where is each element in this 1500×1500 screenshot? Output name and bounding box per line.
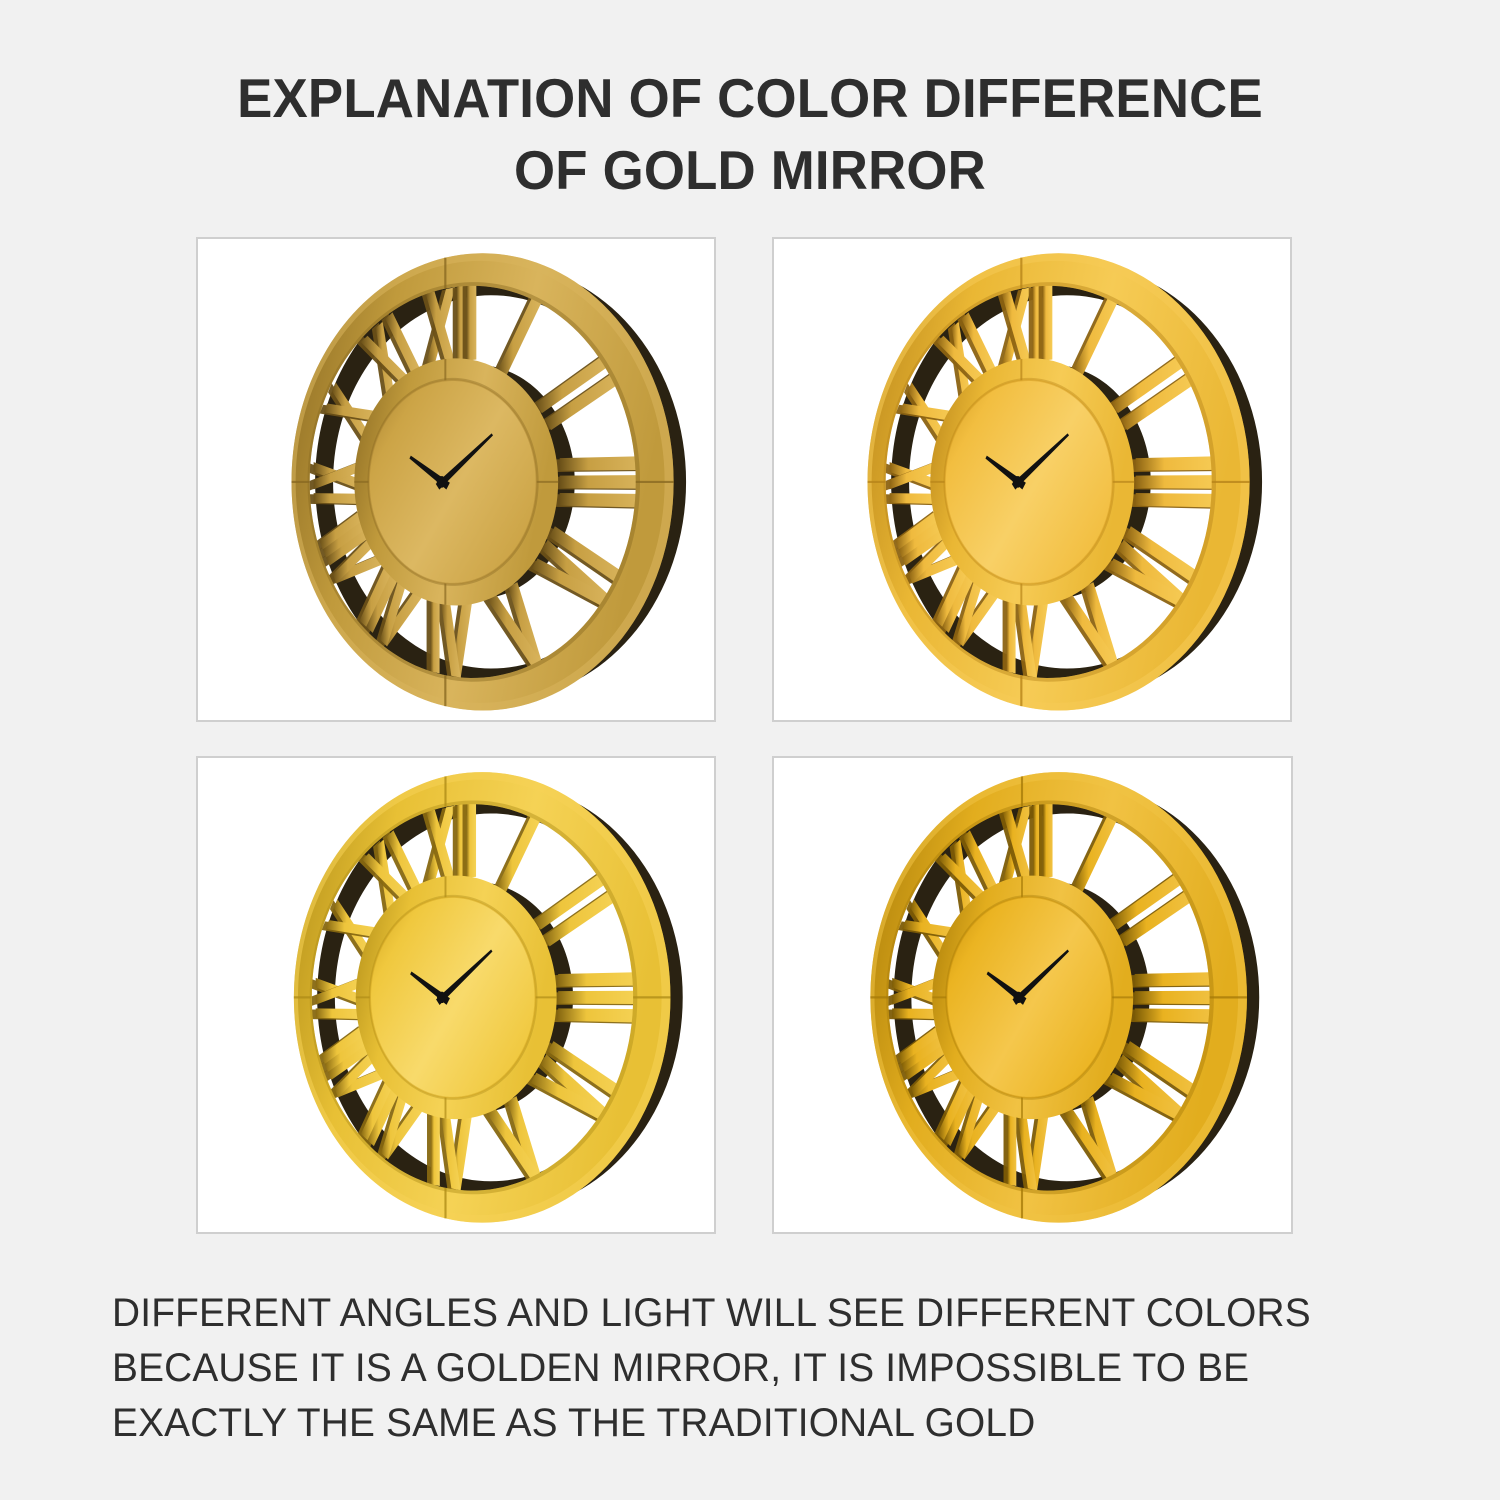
roman-numeral-III xyxy=(1132,456,1218,508)
page-title: EXPLANATION OF COLOR DIFFERENCE OF GOLD … xyxy=(30,62,1470,206)
clock-dial-face xyxy=(945,380,1112,583)
wall-clock-illustration xyxy=(198,758,714,1232)
roman-numeral-XII xyxy=(422,283,477,367)
wall-clock-illustration xyxy=(774,239,1290,720)
wall-clock-illustration xyxy=(774,758,1291,1232)
product-infographic: EXPLANATION OF COLOR DIFFERENCE OF GOLD … xyxy=(0,0,1500,1500)
roman-numeral-I xyxy=(1070,297,1119,377)
roman-numeral-IX xyxy=(886,461,938,505)
panel-bottom-left xyxy=(196,756,716,1234)
panel-top-right xyxy=(772,237,1292,722)
roman-numeral-I xyxy=(493,815,541,894)
roman-numeral-IX xyxy=(310,461,362,505)
roman-numeral-XII xyxy=(998,283,1053,367)
hand-center-cap xyxy=(437,992,446,1003)
roman-numeral-III xyxy=(554,972,639,1024)
roman-numeral-I xyxy=(1069,815,1117,894)
roman-numeral-I xyxy=(494,297,543,377)
roman-numeral-XII xyxy=(422,801,476,884)
clock-dial-face xyxy=(369,380,536,583)
hand-center-cap xyxy=(1013,476,1023,487)
clock-dial-face xyxy=(370,897,535,1098)
panel-top-left xyxy=(196,237,716,722)
hand-center-cap xyxy=(437,476,447,487)
roman-numeral-III xyxy=(1131,972,1216,1024)
roman-numeral-IX xyxy=(888,977,939,1020)
roman-numeral-III xyxy=(556,456,642,508)
roman-numeral-XII xyxy=(999,801,1053,884)
wall-clock-illustration xyxy=(198,239,714,720)
explanatory-caption: DIFFERENT ANGLES AND LIGHT WILL SEE DIFF… xyxy=(112,1286,1373,1451)
roman-numeral-IX xyxy=(312,977,363,1020)
panel-bottom-right xyxy=(772,756,1293,1234)
hand-center-cap xyxy=(1013,992,1022,1003)
clock-dial-face xyxy=(947,897,1112,1098)
